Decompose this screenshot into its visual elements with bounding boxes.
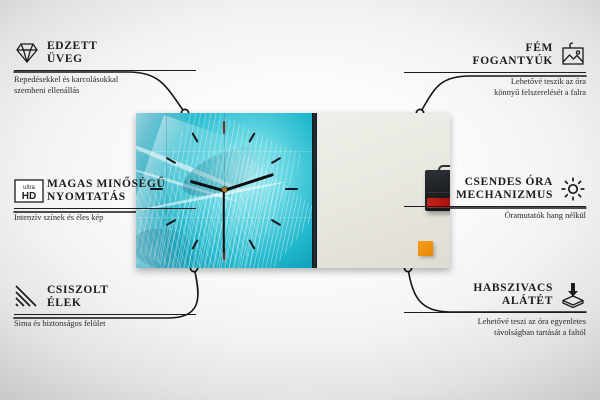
minute-hand (223, 173, 274, 192)
ultra-hd-bottom-text: HD (22, 191, 36, 202)
tick-3 (285, 188, 298, 190)
callout-subtitle: Óramutatók hang nélkül (404, 210, 586, 221)
callout-title: Csendes óra mechanizmus (456, 176, 553, 203)
callout-magas-minosegu-nyomtatas: ultra HD Magas minőségű nyomtatás Intenz… (14, 178, 196, 223)
callout-subtitle: Sima és biztonságos felület (14, 318, 196, 329)
callout-subtitle: Lehetővé teszik az óra könnyű felszerelé… (404, 76, 586, 99)
tick-4 (271, 219, 282, 226)
callout-subtitle: Repedésekkel és karcolásokkal szembeni e… (14, 74, 196, 97)
wall-mount-hanger-icon (560, 42, 586, 68)
callout-title: Edzett üveg (47, 40, 97, 67)
tick-12 (223, 121, 225, 134)
tick-1 (248, 132, 255, 143)
diamond-icon (14, 40, 40, 66)
callout-edzett-uveg: Edzett üveg Repedésekkel és karcolásokka… (14, 40, 196, 96)
mechanism-hanger-loop (438, 165, 450, 175)
callout-divider (14, 70, 196, 71)
ultra-hd-icon: ultra HD (14, 178, 40, 204)
callout-title: Csiszolt élek (47, 284, 109, 311)
gear-icon (560, 176, 586, 202)
clock-hands-hub (222, 187, 227, 192)
callout-habszivacs-alatet: Habszivacs alátét Lehetővé teszi az óra … (404, 282, 586, 338)
callout-subtitle: Intenzív színek és éles kép (14, 212, 196, 223)
callout-divider (404, 312, 586, 313)
callout-divider (404, 206, 586, 207)
callout-title: Habszivacs alátét (473, 282, 553, 309)
callout-subtitle: Lehetővé teszi az óra egyenletes távolsá… (404, 316, 586, 339)
foam-spacer-pad (418, 241, 433, 256)
infographic-canvas: Edzett üveg Repedésekkel és karcolásokka… (0, 0, 600, 400)
polished-edges-icon (14, 284, 40, 310)
callout-divider (14, 314, 196, 315)
tick-11 (191, 132, 198, 143)
callout-title: Magas minőségű nyomtatás (47, 178, 165, 205)
tick-5 (248, 239, 255, 250)
tick-10 (166, 157, 177, 164)
callout-divider (14, 208, 196, 209)
tick-7 (191, 239, 198, 250)
callout-divider (404, 72, 586, 73)
callout-title: Fém fogantyúk (473, 42, 553, 69)
second-hand (223, 191, 225, 253)
foam-pad-icon (560, 282, 586, 308)
tick-2 (271, 157, 282, 164)
callout-csendes-ora-mechanizmus: Csendes óra mechanizmus Óramutatók hang … (404, 176, 586, 221)
callout-fem-fogantyuk: Fém fogantyúk Lehetővé teszik az óra kön… (404, 42, 586, 98)
callout-csiszolt-elek: Csiszolt élek Sima és biztonságos felüle… (14, 284, 196, 329)
